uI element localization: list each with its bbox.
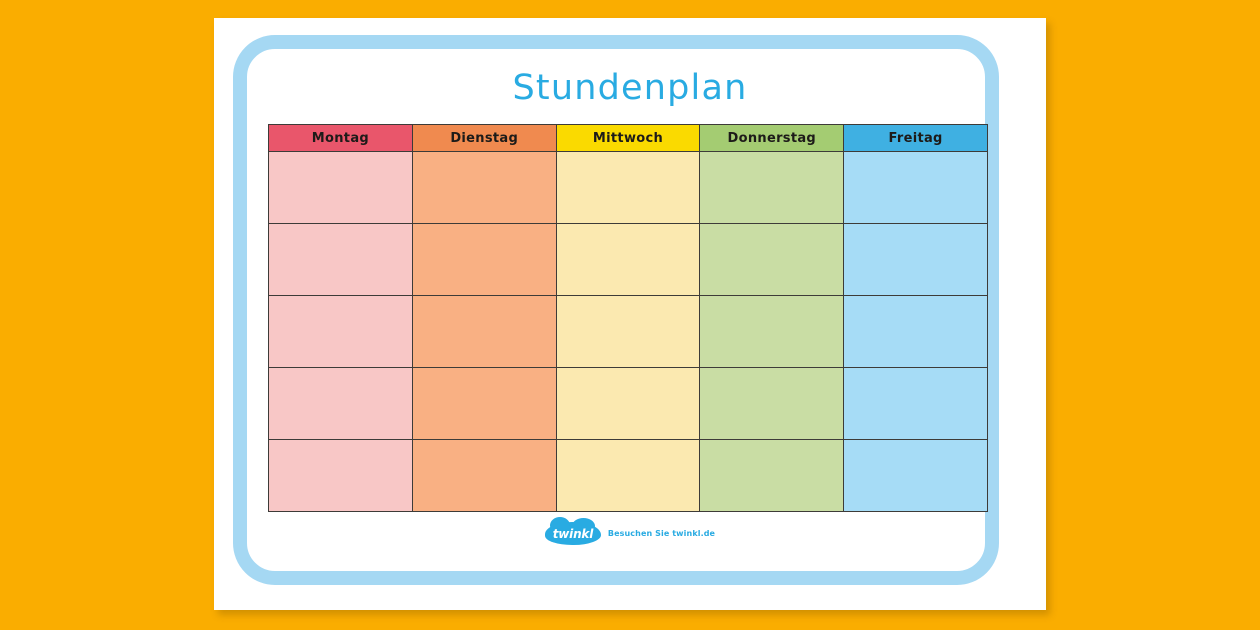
footer: twinkl Besuchen Sie twinkl.de (214, 522, 1046, 545)
timetable-cell[interactable] (269, 296, 413, 368)
twinkl-cloud-logo-icon[interactable]: twinkl (545, 522, 601, 545)
timetable-cell[interactable] (844, 224, 988, 296)
timetable-cell[interactable] (844, 296, 988, 368)
timetable-header-row: Montag Dienstag Mittwoch Donnerstag Frei… (269, 125, 988, 152)
canvas: Stundenplan Montag Dienstag Mittwoch Don… (0, 0, 1260, 630)
timetable-cell[interactable] (700, 152, 844, 224)
timetable-cell[interactable] (412, 368, 556, 440)
timetable-cell[interactable] (269, 440, 413, 512)
page-title: Stundenplan (214, 68, 1046, 108)
timetable-cell[interactable] (556, 224, 700, 296)
timetable-cell[interactable] (700, 296, 844, 368)
timetable-cell[interactable] (412, 440, 556, 512)
footer-tagline: Besuchen Sie twinkl.de (608, 529, 715, 538)
table-row (269, 152, 988, 224)
timetable-cell[interactable] (556, 368, 700, 440)
timetable-cell[interactable] (412, 152, 556, 224)
table-row (269, 440, 988, 512)
timetable: Montag Dienstag Mittwoch Donnerstag Frei… (268, 124, 988, 512)
timetable-cell[interactable] (412, 296, 556, 368)
timetable-body (269, 152, 988, 512)
timetable-cell[interactable] (700, 368, 844, 440)
timetable-cell[interactable] (844, 368, 988, 440)
timetable-cell[interactable] (556, 152, 700, 224)
column-header-mittwoch: Mittwoch (556, 125, 700, 152)
timetable-cell[interactable] (700, 440, 844, 512)
timetable-cell[interactable] (412, 224, 556, 296)
timetable-cell[interactable] (556, 296, 700, 368)
timetable-cell[interactable] (269, 224, 413, 296)
column-header-freitag: Freitag (844, 125, 988, 152)
timetable-cell[interactable] (700, 224, 844, 296)
table-row (269, 368, 988, 440)
table-row (269, 224, 988, 296)
column-header-dienstag: Dienstag (412, 125, 556, 152)
timetable-cell[interactable] (269, 368, 413, 440)
timetable-cell[interactable] (269, 152, 413, 224)
table-row (269, 296, 988, 368)
timetable-cell[interactable] (844, 152, 988, 224)
worksheet-page: Stundenplan Montag Dienstag Mittwoch Don… (214, 18, 1046, 610)
timetable-cell[interactable] (556, 440, 700, 512)
timetable-cell[interactable] (844, 440, 988, 512)
column-header-donnerstag: Donnerstag (700, 125, 844, 152)
column-header-montag: Montag (269, 125, 413, 152)
twinkl-logo-wordmark: twinkl (553, 527, 593, 541)
